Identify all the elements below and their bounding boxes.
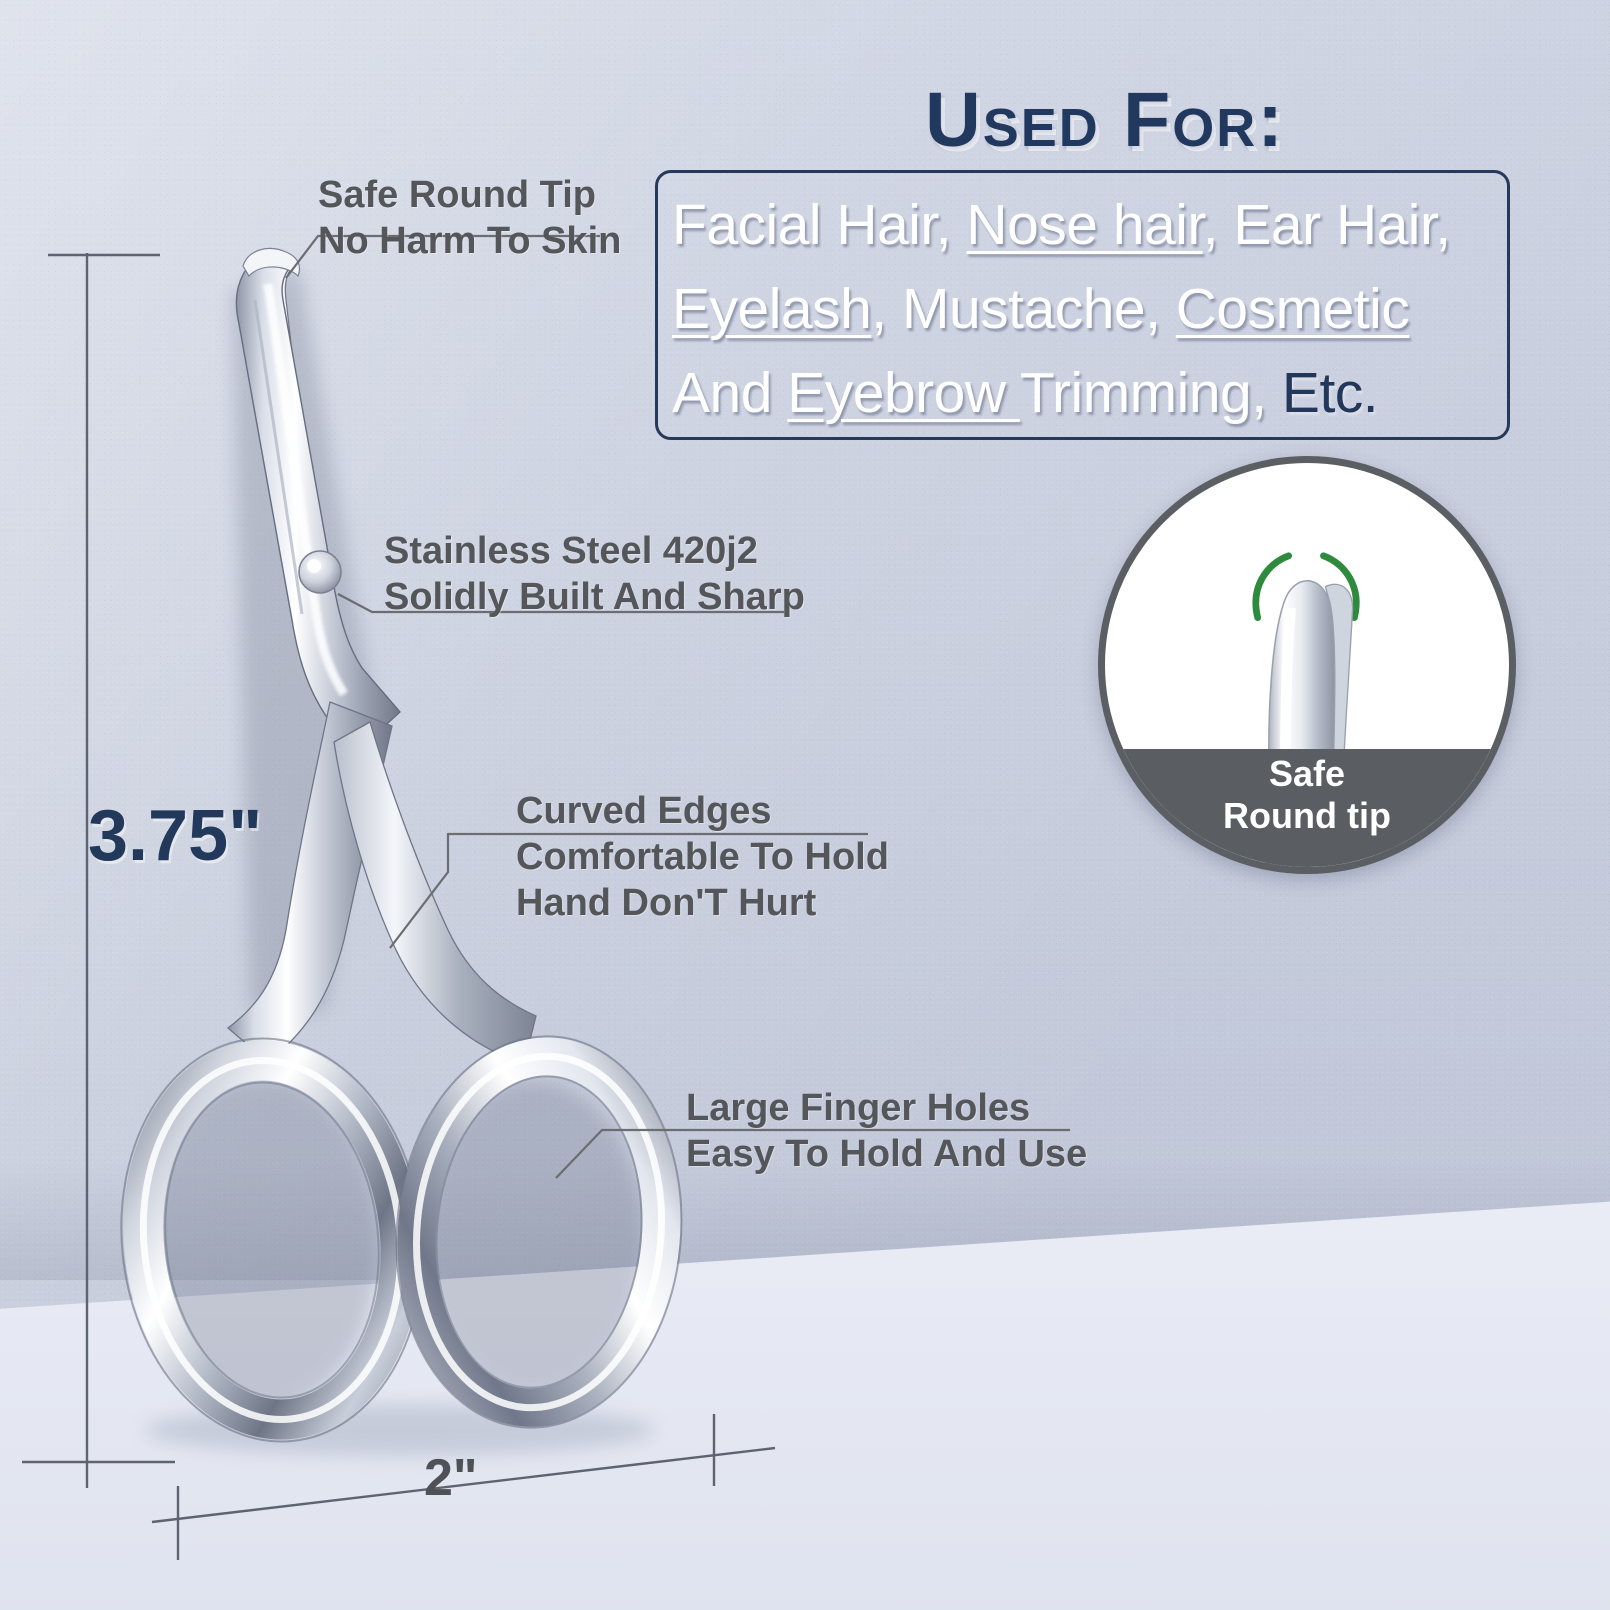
inset-caption-line2: Round tip bbox=[1223, 795, 1391, 837]
used-for-run-1-1: Facial Hair, bbox=[672, 193, 966, 257]
callout-tip-line2: No Harm To Skin bbox=[318, 218, 621, 264]
used-for-run-3-5: Etc. bbox=[1282, 361, 1378, 425]
used-for-run-3-4: , bbox=[1251, 361, 1282, 425]
callout-curved-edges: Curved Edges Comfortable To Hold Hand Do… bbox=[516, 788, 889, 926]
callout-steel-line1: Stainless Steel 420j2 bbox=[384, 530, 758, 572]
callout-safe-round-tip: Safe Round Tip No Harm To Skin bbox=[318, 172, 621, 264]
used-for-line-2: Eyelash, Mustache, Cosmetic bbox=[672, 267, 1502, 351]
callout-curved-line3: Hand Don'T Hurt bbox=[516, 880, 889, 926]
used-for-run-2-2: , Mustache, bbox=[871, 277, 1175, 341]
inset-caption-line1: Safe bbox=[1269, 753, 1345, 795]
inset-caption-band: Safe Round tip bbox=[1105, 749, 1509, 867]
scissors-right-shank bbox=[334, 722, 536, 1064]
used-for-run-3-2: Eyebrow bbox=[787, 361, 1020, 425]
callout-tip-line1: Safe Round Tip bbox=[318, 174, 596, 216]
callout-holes-line2: Easy To Hold And Use bbox=[686, 1131, 1087, 1177]
used-for-run-1-3: , Ear Hair, bbox=[1203, 193, 1451, 257]
page-title: Used For: bbox=[690, 82, 1520, 159]
used-for-line-3: And Eyebrow Trimming, Etc. bbox=[672, 351, 1502, 435]
scissors-pivot-screw bbox=[299, 551, 341, 593]
screw-highlight bbox=[307, 559, 321, 573]
safe-round-tip-inset: Safe Round tip bbox=[1098, 456, 1516, 874]
used-for-list: Facial Hair, Nose hair, Ear Hair,Eyelash… bbox=[672, 183, 1502, 435]
used-for-line-1: Facial Hair, Nose hair, Ear Hair, bbox=[672, 183, 1502, 267]
used-for-run-3-1: And bbox=[672, 361, 787, 425]
used-for-run-1-2: Nose hair bbox=[966, 193, 1202, 257]
callout-large-finger-holes: Large Finger Holes Easy To Hold And Use bbox=[686, 1085, 1087, 1177]
callout-curved-line1: Curved Edges bbox=[516, 790, 772, 832]
dimension-width-label: 2" bbox=[424, 1448, 478, 1508]
infographic-canvas: Used For: Facial Hair, Nose hair, Ear Ha… bbox=[0, 0, 1610, 1610]
callout-curved-line2: Comfortable To Hold bbox=[516, 834, 889, 880]
dimension-height-label: 3.75" bbox=[88, 795, 262, 877]
callout-holes-line1: Large Finger Holes bbox=[686, 1087, 1030, 1129]
callout-steel-line2: Solidly Built And Sharp bbox=[384, 574, 805, 620]
used-for-run-3-3: Trimming bbox=[1020, 361, 1251, 425]
used-for-run-2-1: Eyelash bbox=[672, 277, 871, 341]
used-for-run-2-3: Cosmetic bbox=[1176, 277, 1410, 341]
callout-stainless-steel: Stainless Steel 420j2 Solidly Built And … bbox=[384, 528, 805, 620]
